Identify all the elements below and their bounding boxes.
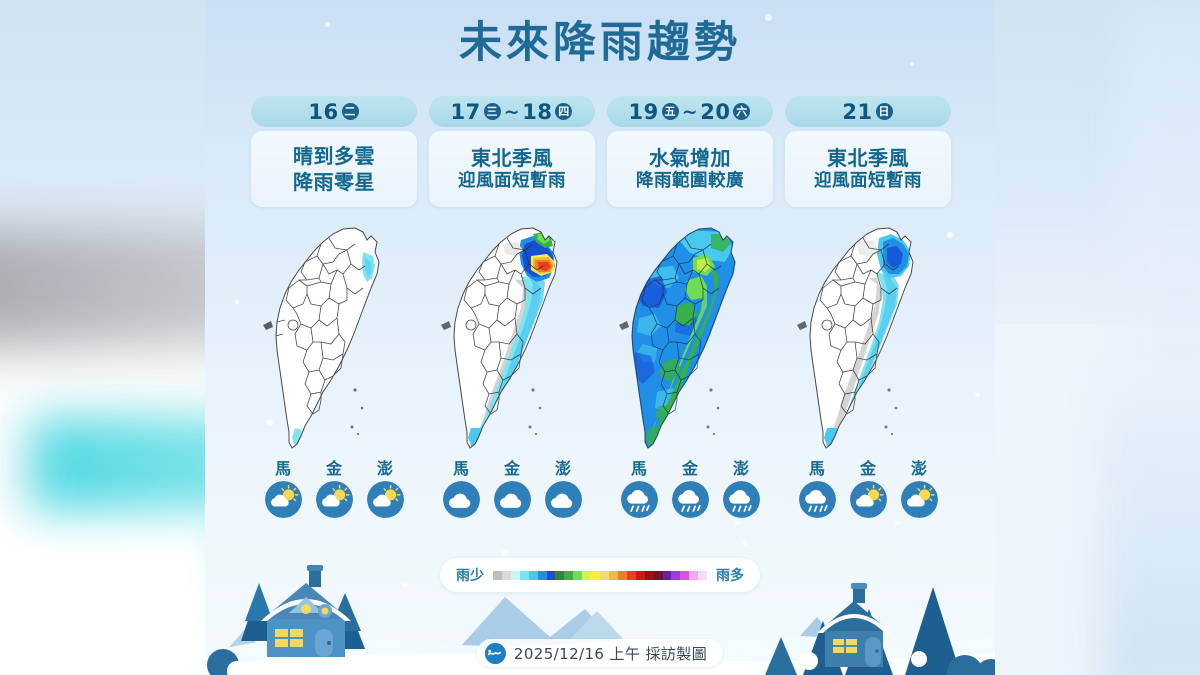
island-matsu-day4[interactable]: 馬 xyxy=(797,460,838,518)
legend-swatch xyxy=(582,571,591,580)
date-label: 17 xyxy=(451,100,481,124)
legend-swatch xyxy=(689,571,698,580)
day-of-week-badge: 五 xyxy=(662,103,679,120)
range-tilde: ~ xyxy=(504,101,520,123)
legend-swatch xyxy=(555,571,564,580)
legend-swatch xyxy=(511,571,520,580)
island-penghu-day2[interactable]: 澎 xyxy=(543,460,584,518)
island-label: 金 xyxy=(504,460,520,478)
taiwan-rainfall-map-day1[interactable] xyxy=(259,222,409,454)
island-matsu-day1[interactable]: 馬 xyxy=(263,460,304,518)
cloudy-icon xyxy=(443,481,480,518)
legend-swatch xyxy=(520,571,529,580)
map-column-day3: 馬 金 澎 xyxy=(607,222,773,518)
day-of-week-badge: 三 xyxy=(484,103,501,120)
legend-swatch xyxy=(573,571,582,580)
rainfall-legend: 雨少 雨多 xyxy=(440,558,760,592)
legend-swatch xyxy=(591,571,600,580)
cloudy-icon xyxy=(545,481,582,518)
day-of-week-badge-2: 六 xyxy=(733,103,750,120)
legend-swatch xyxy=(645,571,654,580)
island-kinmen-day2[interactable]: 金 xyxy=(492,460,533,518)
island-label: 澎 xyxy=(911,460,927,478)
map-column-day4: 馬 金 澎 xyxy=(785,222,951,518)
summary-line-1: 東北季風 xyxy=(827,147,909,169)
footer-credit: 2025/12/16 上午 採訪製圖 xyxy=(477,639,723,667)
card-header-day1: 16二 xyxy=(251,96,417,127)
island-label: 金 xyxy=(682,460,698,478)
legend-swatch xyxy=(493,571,502,580)
summary-line-2: 降雨零星 xyxy=(293,171,375,193)
rain-icon xyxy=(672,481,709,518)
range-tilde: ~ xyxy=(682,101,698,123)
legend-swatch xyxy=(618,571,627,580)
backdrop-white-blur-2 xyxy=(0,513,230,675)
island-label: 馬 xyxy=(453,460,469,478)
backdrop-right-blur-2 xyxy=(1100,385,1200,675)
rainfall-map-row: 馬 金 澎 xyxy=(251,222,951,518)
summary-line-1: 晴到多雲 xyxy=(293,145,375,167)
island-penghu-day3[interactable]: 澎 xyxy=(721,460,762,518)
legend-swatch xyxy=(547,571,556,580)
date-label-2: 18 xyxy=(522,100,552,124)
rain-icon xyxy=(723,481,760,518)
card-body-day4: 東北季風 迎風面短暫雨 xyxy=(785,131,951,207)
card-body-day2: 東北季風 迎風面短暫雨 xyxy=(429,131,595,207)
forecast-card-day2[interactable]: 17三~18四 東北季風 迎風面短暫雨 xyxy=(429,96,595,207)
legend-swatch xyxy=(671,571,680,580)
island-label: 馬 xyxy=(631,460,647,478)
legend-color-bar xyxy=(493,571,707,580)
legend-swatch xyxy=(502,571,511,580)
island-kinmen-day1[interactable]: 金 xyxy=(314,460,355,518)
legend-swatch xyxy=(680,571,689,580)
island-forecast-row-day3: 馬 金 澎 xyxy=(619,460,762,518)
sun-cloud-icon xyxy=(265,481,302,518)
page-title: 未來降雨趨勢 xyxy=(205,8,995,70)
snow-dot xyxy=(235,300,239,304)
island-forecast-row-day4: 馬 金 澎 xyxy=(797,460,940,518)
sun-cloud-icon xyxy=(367,481,404,518)
legend-swatch xyxy=(663,571,672,580)
legend-swatch xyxy=(654,571,663,580)
snow-dot xyxy=(975,392,980,397)
tvbs-logo-icon xyxy=(485,643,506,664)
island-forecast-row-day1: 馬 金 澎 xyxy=(263,460,406,518)
date-label-2: 20 xyxy=(700,100,730,124)
day-of-week-badge: 二 xyxy=(342,103,359,120)
summary-line-2: 降雨範圍較廣 xyxy=(636,172,744,192)
legend-swatch xyxy=(609,571,618,580)
island-forecast-row-day2: 馬 金 澎 xyxy=(441,460,584,518)
date-label: 19 xyxy=(629,100,659,124)
legend-swatch xyxy=(564,571,573,580)
day-of-week-badge: 日 xyxy=(876,103,893,120)
summary-line-2: 迎風面短暫雨 xyxy=(814,172,922,192)
island-label: 澎 xyxy=(377,460,393,478)
legend-swatch xyxy=(627,571,636,580)
sun-cloud-icon xyxy=(316,481,353,518)
card-body-day3: 水氣增加 降雨範圍較廣 xyxy=(607,131,773,207)
legend-swatch xyxy=(698,571,707,580)
card-header-day4: 21日 xyxy=(785,96,951,127)
island-matsu-day3[interactable]: 馬 xyxy=(619,460,660,518)
card-body-day1: 晴到多雲 降雨零星 xyxy=(251,131,417,207)
summary-line-1: 東北季風 xyxy=(471,147,553,169)
island-label: 金 xyxy=(860,460,876,478)
day-of-week-badge-2: 四 xyxy=(555,103,572,120)
summary-line-2: 迎風面短暫雨 xyxy=(458,172,566,192)
card-header-day2: 17三~18四 xyxy=(429,96,595,127)
island-label: 馬 xyxy=(809,460,825,478)
taiwan-rainfall-map-day4[interactable] xyxy=(793,222,943,454)
infographic-panel: 未來降雨趨勢 16二 晴到多雲 降雨零星 17三~18四 東北季風 迎風面短暫雨… xyxy=(205,0,995,675)
sun-cloud-icon xyxy=(850,481,887,518)
legend-swatch xyxy=(538,571,547,580)
island-penghu-day1[interactable]: 澎 xyxy=(365,460,406,518)
rain-icon xyxy=(799,481,836,518)
taiwan-rainfall-map-day3[interactable] xyxy=(615,222,765,454)
island-label: 澎 xyxy=(733,460,749,478)
forecast-card-row: 16二 晴到多雲 降雨零星 17三~18四 東北季風 迎風面短暫雨 19五~20… xyxy=(251,96,951,207)
forecast-card-day1[interactable]: 16二 晴到多雲 降雨零星 xyxy=(251,96,417,207)
rain-icon xyxy=(621,481,658,518)
date-label: 21 xyxy=(842,100,872,124)
island-penghu-day4[interactable]: 澎 xyxy=(899,460,940,518)
backdrop-right-blur-1 xyxy=(1120,0,1200,405)
island-label: 澎 xyxy=(555,460,571,478)
taiwan-rainfall-map-day2[interactable] xyxy=(437,222,587,454)
forecast-card-day4[interactable]: 21日 東北季風 迎風面短暫雨 xyxy=(785,96,951,207)
map-column-day1: 馬 金 澎 xyxy=(251,222,417,518)
sun-cloud-icon xyxy=(901,481,938,518)
map-column-day2: 馬 金 澎 xyxy=(429,222,595,518)
island-matsu-day2[interactable]: 馬 xyxy=(441,460,482,518)
legend-swatch xyxy=(529,571,538,580)
island-label: 馬 xyxy=(275,460,291,478)
legend-low-label: 雨少 xyxy=(456,565,484,585)
card-header-day3: 19五~20六 xyxy=(607,96,773,127)
legend-swatch xyxy=(636,571,645,580)
summary-line-1: 水氣增加 xyxy=(649,147,731,169)
island-kinmen-day3[interactable]: 金 xyxy=(670,460,711,518)
timestamp-label: 2025/12/16 上午 採訪製圖 xyxy=(514,643,707,664)
legend-high-label: 雨多 xyxy=(716,565,744,585)
island-kinmen-day4[interactable]: 金 xyxy=(848,460,889,518)
cloudy-icon xyxy=(494,481,531,518)
island-label: 金 xyxy=(326,460,342,478)
legend-swatch xyxy=(600,571,609,580)
forecast-card-day3[interactable]: 19五~20六 水氣增加 降雨範圍較廣 xyxy=(607,96,773,207)
date-label: 16 xyxy=(308,100,338,124)
